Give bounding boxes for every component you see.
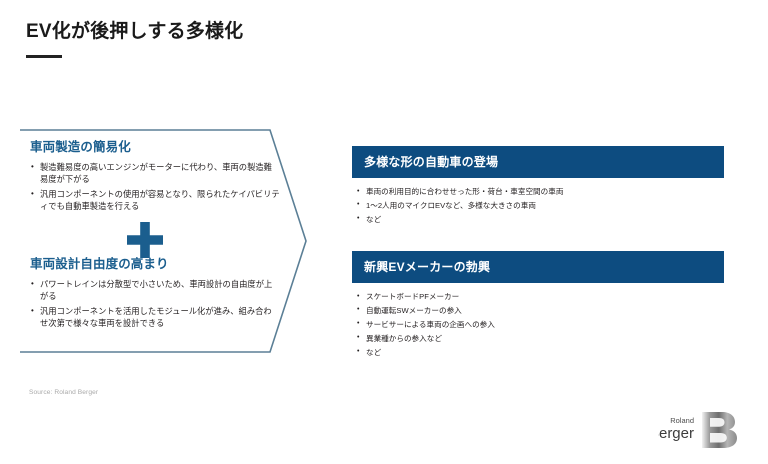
right-panel-emerging-ev-makers: 新興EVメーカーの勃興 スケートボードPFメーカー 自動運転SWメーカーの参入 … xyxy=(352,251,724,362)
list-item: 1～2人用のマイクロEVなど、多様な大きさの車両 xyxy=(356,201,724,212)
left-block-2-bullet-list: パワートレインは分散型で小さいため、車両設計の自由度が上がる 汎用コンポーネント… xyxy=(30,278,280,329)
logo-line2: Berger xyxy=(658,425,694,442)
logo-b-mark xyxy=(702,412,737,448)
list-item: 異業種からの参入など xyxy=(356,334,724,345)
page-title: EV化が後押しする多様化 xyxy=(26,16,243,43)
list-item: 車両の利用目的に合わせせった形・荷台・車室空間の車両 xyxy=(356,187,724,198)
list-item: 汎用コンポーネントを活用したモジュール化が進み、組み合わせ次第で様々な車両を設計… xyxy=(30,305,280,329)
list-item: サービサーによる車両の企画への参入 xyxy=(356,320,724,331)
left-block-vehicle-manufacturing: 車両製造の簡易化 製造難易度の高いエンジンがモーターに代わり、車両の製造難易度が… xyxy=(30,136,280,215)
list-item: 自動運転SWメーカーの参入 xyxy=(356,306,724,317)
left-arrow-container: 車両製造の簡易化 製造難易度の高いエンジンがモーターに代わり、車両の製造難易度が… xyxy=(18,128,308,354)
plus-icon xyxy=(127,222,163,258)
right-panel-1-bullet-list: 車両の利用目的に合わせせった形・荷台・車室空間の車両 1～2人用のマイクロEVな… xyxy=(352,178,724,226)
roland-berger-logo: Roland Berger xyxy=(658,408,750,450)
slide-canvas: EV化が後押しする多様化 車両製造の簡易化 製造難易度の高いエンジンがモーターに… xyxy=(0,0,768,464)
list-item: スケートボードPFメーカー xyxy=(356,292,724,303)
list-item: 製造難易度の高いエンジンがモーターに代わり、車両の製造難易度が下がる xyxy=(30,161,280,185)
logo-line1: Roland xyxy=(670,416,694,425)
left-block-design-freedom: 車両設計自由度の高まり パワートレインは分散型で小さいため、車両設計の自由度が上… xyxy=(30,253,280,332)
list-item: 汎用コンポーネントの使用が容易となり、限られたケイパビリティでも自動車製造を行え… xyxy=(30,188,280,212)
title-underline-rule xyxy=(26,55,62,58)
list-item: など xyxy=(356,215,724,226)
right-panel-2-header: 新興EVメーカーの勃興 xyxy=(352,251,724,283)
left-block-1-bullet-list: 製造難易度の高いエンジンがモーターに代わり、車両の製造難易度が下がる 汎用コンポ… xyxy=(30,161,280,212)
list-item: など xyxy=(356,348,724,359)
right-panel-2-bullet-list: スケートボードPFメーカー 自動運転SWメーカーの参入 サービサーによる車両の企… xyxy=(352,283,724,359)
source-note: Source: Roland Berger xyxy=(29,389,98,396)
right-panel-vehicle-variety: 多様な形の自動車の登場 車両の利用目的に合わせせった形・荷台・車室空間の車両 1… xyxy=(352,146,724,229)
left-block-1-heading: 車両製造の簡易化 xyxy=(30,136,280,155)
list-item: パワートレインは分散型で小さいため、車両設計の自由度が上がる xyxy=(30,278,280,302)
right-panel-1-header: 多様な形の自動車の登場 xyxy=(352,146,724,178)
